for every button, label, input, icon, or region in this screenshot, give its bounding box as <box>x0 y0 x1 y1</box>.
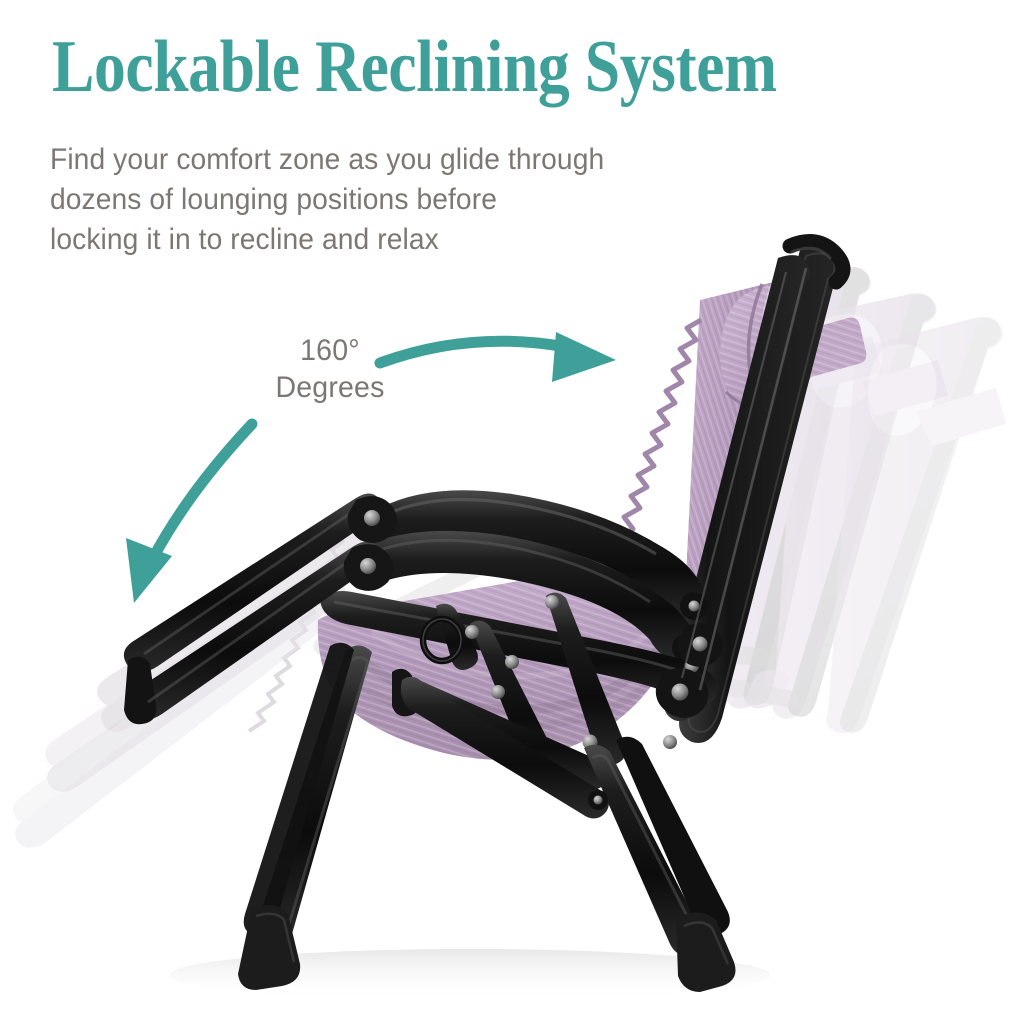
degrees-word-label: Degrees <box>248 370 411 406</box>
degrees-value-label: 160° <box>273 333 387 369</box>
triangle-arrowhead-icon <box>126 538 172 603</box>
product-feature-image: Lockable Reclining System Find your comf… <box>0 0 1024 1024</box>
page-subcopy: Find your comfort zone as you glide thro… <box>50 140 604 260</box>
recline-back-arrow <box>126 424 252 603</box>
triangle-arrowhead-icon <box>552 332 616 382</box>
recline-forward-arrow <box>380 332 616 382</box>
page-title: Lockable Reclining System <box>52 30 777 104</box>
